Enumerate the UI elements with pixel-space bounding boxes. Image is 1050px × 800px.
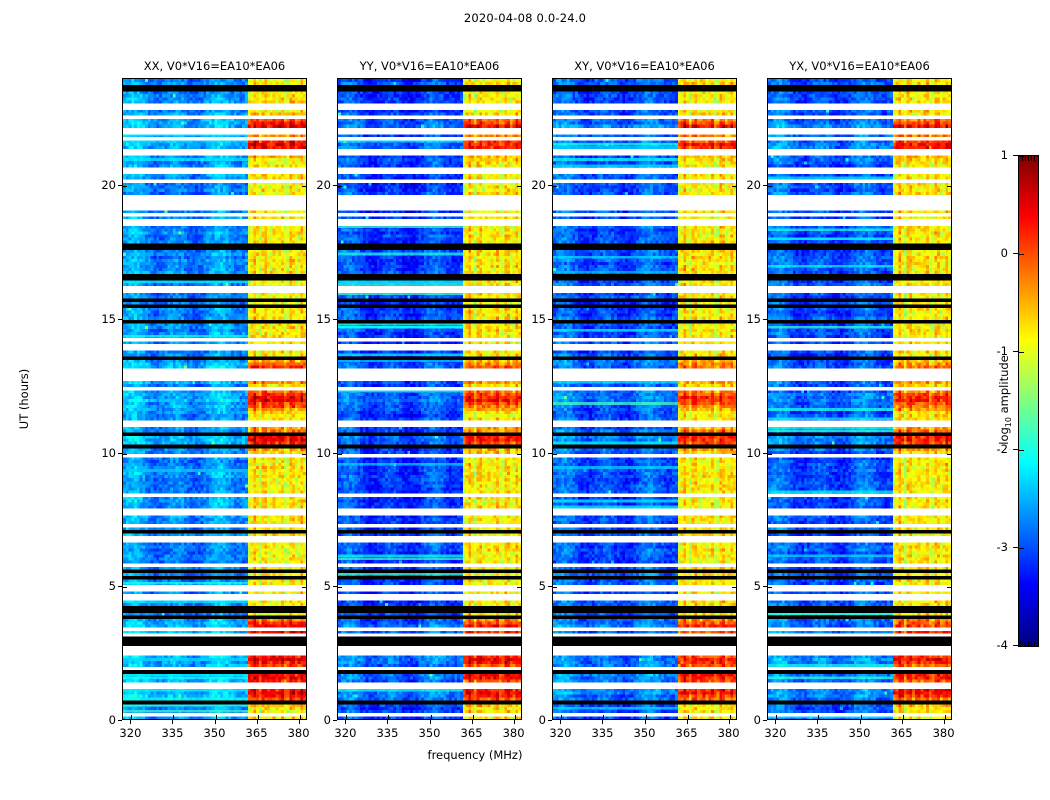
y-tick-mark-right: [947, 454, 951, 455]
x-tick-mark: [130, 720, 131, 724]
x-tick-mark: [299, 720, 300, 724]
colorbar-label: log10 amplitude: [997, 355, 1013, 445]
y-tick-mark-right: [302, 587, 306, 588]
axes-xy[interactable]: [552, 78, 737, 720]
y-tick-mark-right: [302, 186, 306, 187]
colorbar-tick-inner: [1019, 450, 1024, 451]
x-tick-mark: [602, 720, 603, 724]
colorbar-minor-ticks: [1019, 156, 1038, 161]
x-tick-mark-inner: [646, 715, 647, 719]
x-tick-mark: [902, 720, 903, 724]
y-tick-mark-inner: [123, 186, 127, 187]
x-tick-label: 320: [764, 726, 786, 740]
colorbar-label-subscript: 10: [1004, 417, 1013, 427]
x-tick-label: 335: [591, 726, 613, 740]
x-tick-mark-inner: [173, 715, 174, 719]
y-tick-mark-inner: [553, 186, 557, 187]
y-tick-mark-right: [732, 320, 736, 321]
y-tick-mark-inner: [553, 454, 557, 455]
colorbar-tick-inner: [1019, 352, 1024, 353]
y-tick-mark: [333, 453, 337, 454]
y-tick-mark: [333, 319, 337, 320]
y-tick-label: 10: [101, 446, 116, 460]
x-tick-label: 365: [461, 726, 483, 740]
x-tick-label: 350: [849, 726, 871, 740]
y-tick-label: 20: [101, 178, 116, 192]
y-tick-mark: [118, 720, 122, 721]
x-tick-mark: [345, 720, 346, 724]
x-tick-label: 380: [933, 726, 955, 740]
y-tick-mark-inner: [553, 320, 557, 321]
y-tick-mark-inner: [768, 186, 772, 187]
panel-title-xy: XY, V0*V16=EA10*EA06: [552, 59, 737, 73]
y-tick-mark: [118, 453, 122, 454]
y-tick-mark: [333, 586, 337, 587]
y-tick-mark-right: [517, 587, 521, 588]
x-tick-mark-inner: [861, 715, 862, 719]
x-tick-mark: [560, 720, 561, 724]
y-tick-label: 10: [746, 446, 761, 460]
y-tick-label: 0: [109, 713, 116, 727]
y-tick-mark-right: [947, 320, 951, 321]
colorbar-tick-mark: [1013, 351, 1018, 352]
colorbar-tick-label: -3: [997, 540, 1008, 554]
y-tick-label: 5: [109, 579, 116, 593]
y-tick-mark-right: [732, 587, 736, 588]
y-tick-mark-right: [517, 454, 521, 455]
y-tick-mark-inner: [123, 587, 127, 588]
x-tick-label: 380: [503, 726, 525, 740]
y-axis-label: UT (hours): [17, 369, 31, 429]
panel-title-yx: YX, V0*V16=EA10*EA06: [767, 59, 952, 73]
y-tick-mark-right: [517, 320, 521, 321]
x-tick-label: 320: [119, 726, 141, 740]
x-tick-mark: [514, 720, 515, 724]
y-tick-label: 15: [316, 312, 331, 326]
x-tick-mark: [215, 720, 216, 724]
colorbar-tick-mark: [1013, 155, 1018, 156]
x-tick-mark-inner: [818, 715, 819, 719]
x-tick-label: 320: [334, 726, 356, 740]
colorbar-tick-label: -2: [997, 442, 1008, 456]
y-tick-mark-right: [302, 320, 306, 321]
x-tick-label: 365: [891, 726, 913, 740]
axes-yy[interactable]: [337, 78, 522, 720]
y-tick-label: 5: [324, 579, 331, 593]
y-tick-mark-inner: [768, 320, 772, 321]
y-tick-mark: [548, 453, 552, 454]
colorbar-tick-mark: [1013, 645, 1018, 646]
x-tick-mark: [860, 720, 861, 724]
x-tick-label: 320: [549, 726, 571, 740]
y-tick-mark: [548, 720, 552, 721]
x-tick-mark: [944, 720, 945, 724]
x-tick-mark-inner: [945, 715, 946, 719]
y-tick-label: 15: [101, 312, 116, 326]
x-tick-mark-inner: [603, 715, 604, 719]
y-tick-label: 20: [531, 178, 546, 192]
x-tick-mark: [775, 720, 776, 724]
figure-suptitle: 2020-04-08 0.0-24.0: [0, 11, 1050, 25]
x-tick-label: 335: [806, 726, 828, 740]
y-tick-mark: [333, 185, 337, 186]
axes-yx[interactable]: [767, 78, 952, 720]
y-tick-label: 15: [531, 312, 546, 326]
colorbar-tick-mark: [1013, 547, 1018, 548]
y-tick-mark-inner: [338, 587, 342, 588]
panel-xx: XX, V0*V16=EA10*EA06 3203353503653800510…: [122, 78, 307, 720]
y-tick-mark-inner: [553, 587, 557, 588]
axes-xx[interactable]: [122, 78, 307, 720]
spectrogram-xx: [123, 79, 306, 719]
y-tick-label: 5: [754, 579, 761, 593]
panel-yx: YX, V0*V16=EA10*EA06 3203353503653800510…: [767, 78, 952, 720]
y-tick-mark-inner: [338, 186, 342, 187]
colorbar-tick-label: 1: [1001, 148, 1008, 162]
y-tick-mark: [333, 720, 337, 721]
y-tick-mark-right: [732, 454, 736, 455]
y-tick-label: 5: [539, 579, 546, 593]
x-tick-mark: [387, 720, 388, 724]
y-tick-mark-right: [302, 454, 306, 455]
colorbar-tick-inner: [1019, 646, 1024, 647]
y-tick-mark: [118, 319, 122, 320]
y-tick-label: 20: [746, 178, 761, 192]
panel-yy: YY, V0*V16=EA10*EA06 3203353503653800510…: [337, 78, 522, 720]
y-tick-mark-inner: [768, 454, 772, 455]
y-tick-mark: [763, 720, 767, 721]
y-tick-label: 20: [316, 178, 331, 192]
y-tick-mark-inner: [123, 454, 127, 455]
x-tick-mark-inner: [688, 715, 689, 719]
panel-title-yy: YY, V0*V16=EA10*EA06: [337, 59, 522, 73]
spectrogram-yx: [768, 79, 951, 719]
y-tick-mark-right: [517, 186, 521, 187]
spectrogram-yy: [338, 79, 521, 719]
x-tick-mark: [257, 720, 258, 724]
y-tick-mark-inner: [338, 320, 342, 321]
colorbar-gradient: [1019, 156, 1038, 646]
y-tick-mark: [548, 319, 552, 320]
panel-xy: XY, V0*V16=EA10*EA06 3203353503653800510…: [552, 78, 737, 720]
x-tick-mark: [472, 720, 473, 724]
x-axis-label: frequency (MHz): [0, 748, 950, 762]
x-tick-mark-inner: [131, 715, 132, 719]
x-tick-mark-inner: [346, 715, 347, 719]
x-tick-mark: [172, 720, 173, 724]
x-tick-mark-inner: [776, 715, 777, 719]
y-tick-label: 0: [539, 713, 546, 727]
y-tick-mark: [118, 185, 122, 186]
y-tick-mark-right: [732, 186, 736, 187]
x-tick-mark: [817, 720, 818, 724]
panel-title-xx: XX, V0*V16=EA10*EA06: [122, 59, 307, 73]
y-tick-mark-right: [947, 587, 951, 588]
x-tick-label: 380: [288, 726, 310, 740]
x-tick-mark-inner: [903, 715, 904, 719]
y-tick-mark-right: [947, 186, 951, 187]
x-tick-label: 350: [204, 726, 226, 740]
y-tick-mark: [763, 319, 767, 320]
x-tick-label: 365: [676, 726, 698, 740]
y-tick-mark-inner: [123, 320, 127, 321]
y-tick-mark: [548, 586, 552, 587]
colorbar-tick-inner: [1019, 548, 1024, 549]
x-tick-label: 335: [376, 726, 398, 740]
colorbar-label-suffix: amplitude: [997, 355, 1011, 417]
figure-canvas: 2020-04-08 0.0-24.0 XX, V0*V16=EA10*EA06…: [0, 0, 1050, 800]
x-tick-mark: [430, 720, 431, 724]
colorbar-tick-label: -1: [997, 344, 1008, 358]
y-tick-mark-inner: [338, 454, 342, 455]
spectrogram-xy: [553, 79, 736, 719]
x-tick-mark-inner: [431, 715, 432, 719]
y-tick-mark: [118, 586, 122, 587]
x-tick-mark-inner: [216, 715, 217, 719]
y-tick-label: 0: [754, 713, 761, 727]
colorbar-tick-label: 0: [1001, 246, 1008, 260]
x-tick-mark: [729, 720, 730, 724]
y-tick-mark: [763, 453, 767, 454]
y-tick-mark: [763, 586, 767, 587]
x-tick-mark-inner: [258, 715, 259, 719]
y-tick-label: 15: [746, 312, 761, 326]
x-tick-label: 335: [161, 726, 183, 740]
y-tick-label: 10: [531, 446, 546, 460]
x-tick-mark-inner: [730, 715, 731, 719]
x-tick-mark-inner: [388, 715, 389, 719]
colorbar-tick-mark: [1013, 253, 1018, 254]
x-tick-label: 380: [718, 726, 740, 740]
x-tick-mark: [645, 720, 646, 724]
x-tick-label: 350: [419, 726, 441, 740]
x-tick-label: 350: [634, 726, 656, 740]
colorbar[interactable]: [1018, 155, 1039, 647]
x-tick-label: 365: [246, 726, 268, 740]
colorbar-tick-label: -4: [997, 638, 1008, 652]
y-tick-label: 0: [324, 713, 331, 727]
y-tick-mark-inner: [768, 587, 772, 588]
colorbar-minor-ticks: [1019, 641, 1038, 646]
y-tick-label: 10: [316, 446, 331, 460]
x-tick-mark-inner: [473, 715, 474, 719]
x-tick-mark: [687, 720, 688, 724]
colorbar-tick-inner: [1019, 254, 1024, 255]
x-tick-mark-inner: [300, 715, 301, 719]
y-tick-mark: [548, 185, 552, 186]
x-tick-mark-inner: [561, 715, 562, 719]
colorbar-tick-mark: [1013, 449, 1018, 450]
x-tick-mark-inner: [515, 715, 516, 719]
y-tick-mark: [763, 185, 767, 186]
